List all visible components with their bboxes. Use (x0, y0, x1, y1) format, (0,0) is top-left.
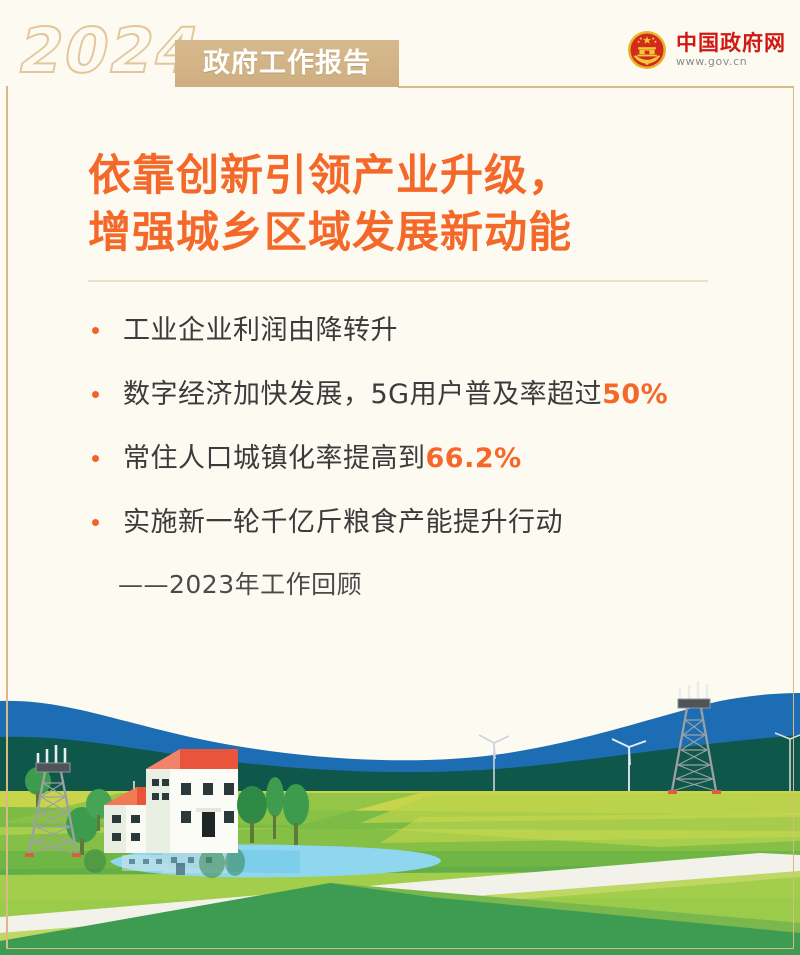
gov-brand-texts: 中国政府网 www.gov.cn (676, 32, 786, 68)
page-title-line-1: 依靠创新引领产业升级， (88, 148, 728, 205)
report-banner: 政府工作报告 (175, 40, 399, 87)
title-divider (88, 280, 708, 282)
list-item: 数字经济加快发展，5G用户普及率超过50% (88, 374, 748, 416)
bullet-dot-icon (92, 391, 99, 398)
list-item-text: 数字经济加快发展，5G用户普及率超过50% (123, 374, 668, 416)
house-large (146, 749, 238, 853)
page-title: 依靠创新引领产业升级， 增强城乡区域发展新动能 (88, 148, 728, 262)
house-door (202, 811, 215, 837)
poster-content: 依靠创新引领产业升级， 增强城乡区域发展新动能 工业企业利润由降转升 数字经济加… (0, 88, 800, 604)
page-title-line-2: 增强城乡区域发展新动能 (88, 205, 728, 262)
list-item: 实施新一轮千亿斤粮食产能提升行动 (88, 502, 748, 544)
list-item-text: 工业企业利润由降转升 (123, 310, 398, 352)
list-item: 工业企业利润由降转升 (88, 310, 748, 352)
list-item-highlight: 66.2% (426, 443, 522, 474)
report-banner-label: 政府工作报告 (203, 50, 371, 77)
frame-line-right (793, 86, 795, 948)
list-item-body: 工业企业利润由降转升 (123, 315, 398, 346)
list-item-body: 实施新一轮千亿斤粮食产能提升行动 (123, 507, 563, 538)
bullet-dot-icon (92, 455, 99, 462)
landscape-svg (0, 665, 800, 955)
poster-root: 2024 政府工作报告 (0, 0, 800, 955)
gov-brand-name: 中国政府网 (676, 32, 786, 54)
national-emblem-icon (627, 30, 667, 70)
list-item-body: 常住人口城镇化率提高到 (123, 443, 426, 474)
frame-line-bottom (6, 948, 794, 950)
bullet-dot-icon (92, 327, 99, 334)
list-item-highlight: 50% (602, 379, 668, 410)
gov-brand-url: www.gov.cn (676, 56, 786, 68)
frame-line-left (6, 86, 8, 948)
list-item: 常住人口城镇化率提高到66.2% (88, 438, 748, 480)
highlight-list: 工业企业利润由降转升 数字经济加快发展，5G用户普及率超过50% 常住人口城镇化… (88, 310, 748, 544)
landscape-illustration (0, 665, 800, 955)
source-caption: ——2023年工作回顾 (118, 566, 800, 604)
list-item-body: 数字经济加快发展，5G用户普及率超过 (123, 379, 602, 410)
gov-brand[interactable]: 中国政府网 www.gov.cn (627, 30, 786, 70)
list-item-text: 常住人口城镇化率提高到66.2% (123, 438, 522, 480)
poster-header: 2024 政府工作报告 (0, 0, 800, 88)
bullet-dot-icon (92, 519, 99, 526)
list-item-text: 实施新一轮千亿斤粮食产能提升行动 (123, 502, 563, 544)
